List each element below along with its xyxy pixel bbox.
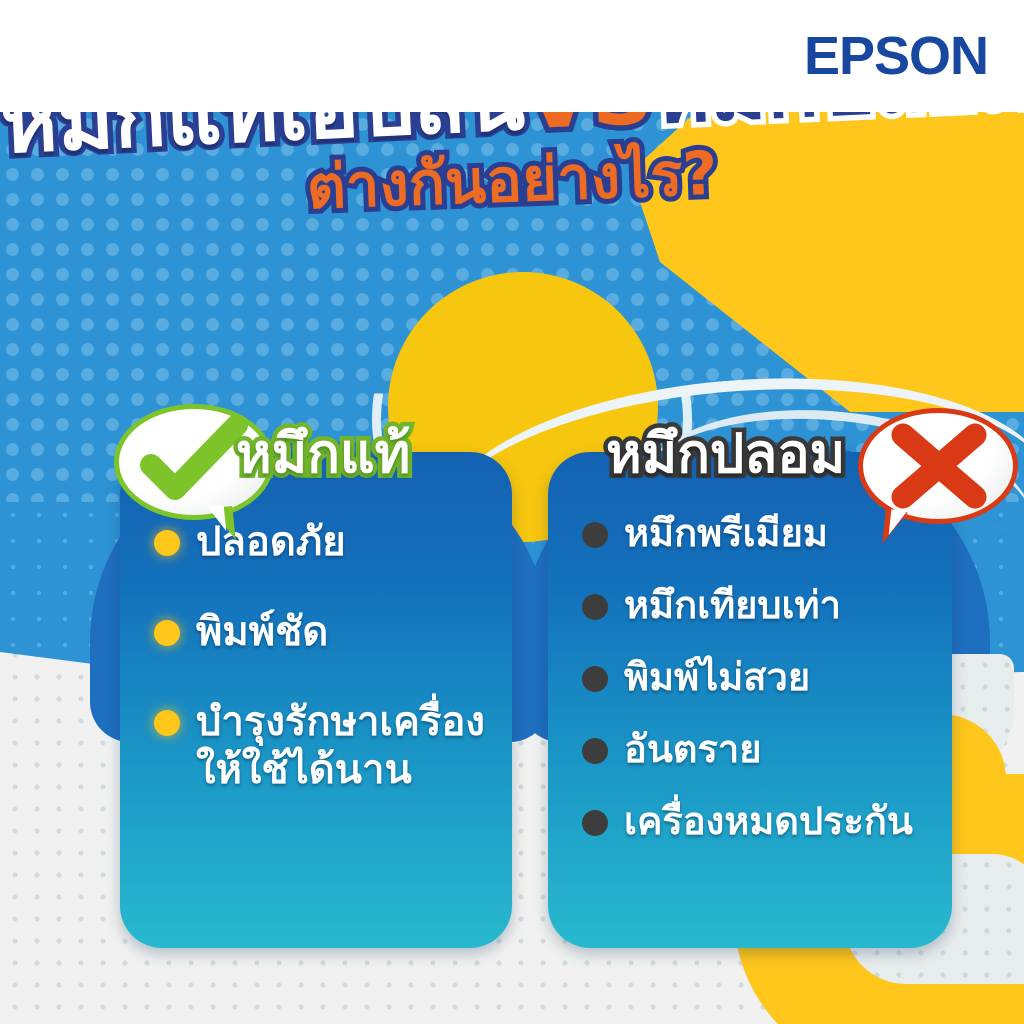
fake-bullet-3: พิมพ์ไม่สวย bbox=[624, 654, 810, 700]
genuine-bullet-3: บำรุงรักษาเครื่อง ให้ใช้ได้นาน bbox=[196, 698, 485, 794]
bullet-dot-icon bbox=[154, 620, 180, 646]
bullet-dot-icon bbox=[582, 594, 608, 620]
red-cross-bubble bbox=[858, 408, 1018, 524]
fake-bullet-1: หมึกพรีเมียม bbox=[624, 510, 828, 556]
epson-ink-comparison-poster: EPSON หมึกแท้เอปสันVSหมึกปลอม ต่างกันอย่… bbox=[0, 0, 1024, 1024]
list-item: พิมพ์ไม่สวย bbox=[582, 654, 926, 700]
genuine-card-label: หมึกแท้ bbox=[236, 424, 410, 484]
subtitle-how-different: ต่างกันอย่างไร? bbox=[306, 139, 719, 223]
genuine-bullet-2: พิมพ์ชัด bbox=[196, 608, 328, 656]
list-item: ปลอดภัย bbox=[154, 518, 486, 566]
red-cross-icon bbox=[863, 413, 1013, 519]
genuine-ink-card: ปลอดภัย พิมพ์ชัด บำรุงรักษาเครื่อง ให้ใช… bbox=[120, 452, 512, 948]
list-item: อันตราย bbox=[582, 726, 926, 772]
bullet-dot-icon bbox=[154, 710, 180, 736]
list-item: เครื่องหมดประกัน bbox=[582, 798, 926, 844]
bullet-dot-icon bbox=[582, 522, 608, 548]
fake-card-label: หมึกปลอม bbox=[606, 424, 845, 484]
epson-logo: EPSON bbox=[804, 26, 988, 86]
fake-bullet-5: เครื่องหมดประกัน bbox=[624, 798, 913, 844]
list-item: บำรุงรักษาเครื่อง ให้ใช้ได้นาน bbox=[154, 698, 486, 794]
list-item: หมึกเทียบเท่า bbox=[582, 582, 926, 628]
list-item: พิมพ์ชัด bbox=[154, 608, 486, 656]
fake-bullet-4: อันตราย bbox=[624, 726, 762, 772]
fake-badge bbox=[858, 408, 1018, 524]
header-bar: EPSON bbox=[0, 0, 1024, 112]
bullet-dot-icon bbox=[582, 810, 608, 836]
bullet-dot-icon bbox=[582, 738, 608, 764]
bullet-dot-icon bbox=[582, 666, 608, 692]
fake-bullet-2: หมึกเทียบเท่า bbox=[624, 582, 841, 628]
bullet-dot-icon bbox=[154, 530, 180, 556]
